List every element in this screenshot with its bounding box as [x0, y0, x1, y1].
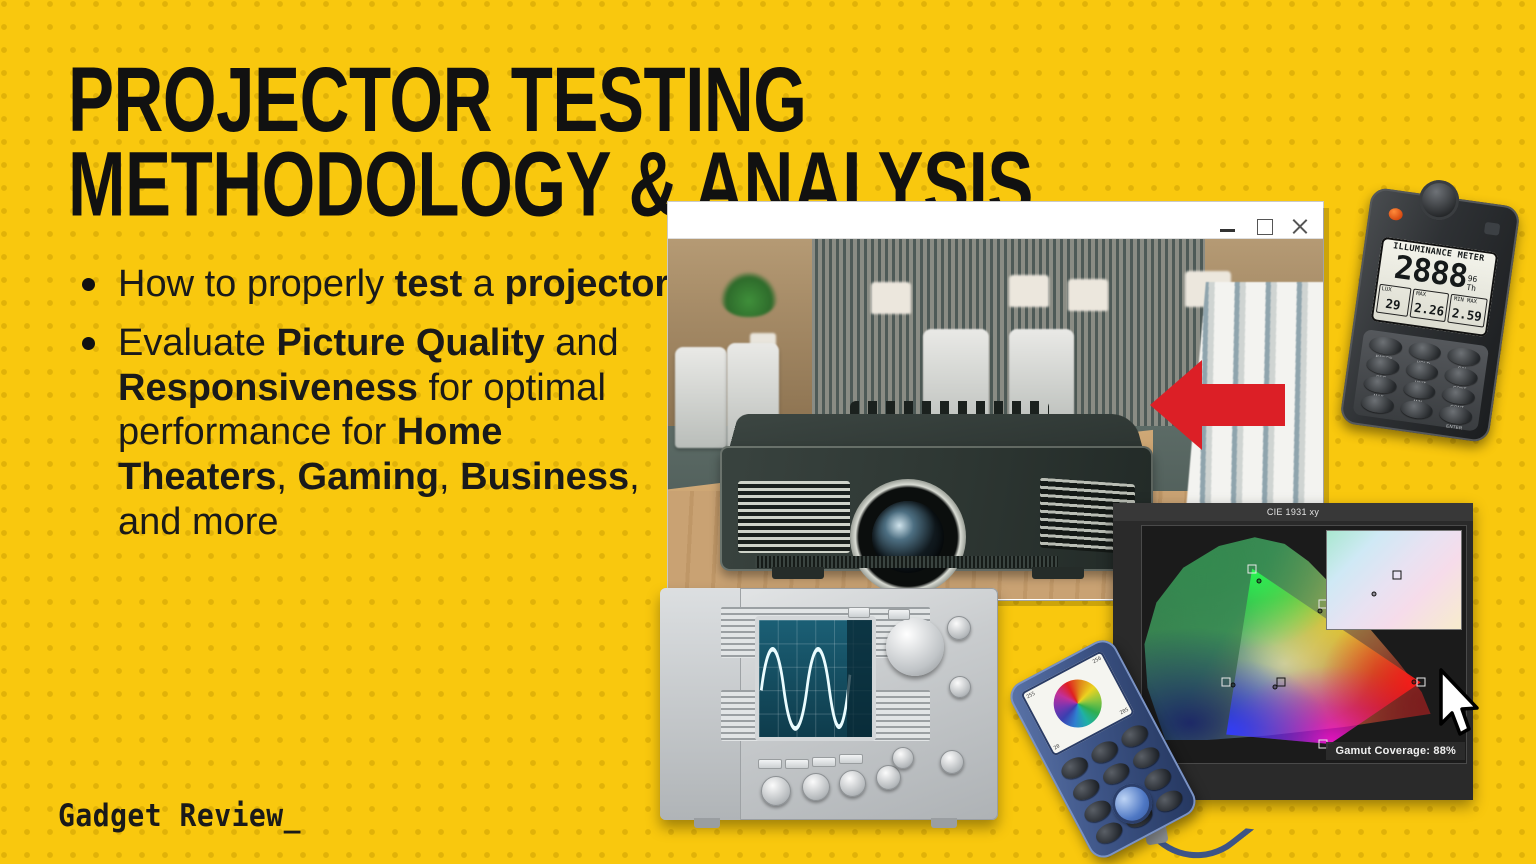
oscilloscope-button-3[interactable]	[812, 757, 836, 767]
maximize-icon[interactable]	[1255, 217, 1273, 235]
bullet-plain: ,	[439, 456, 460, 498]
illuminance-meter-device: ILLUMINANCE METER 2888 96 Th LUX 29 MAX …	[1339, 187, 1521, 444]
lamp-2	[1009, 275, 1049, 307]
oscilloscope-knob-5[interactable]	[892, 747, 914, 769]
colorimeter-key[interactable]	[1088, 737, 1121, 766]
plant-decor	[720, 271, 778, 317]
oscilloscope-knob-3[interactable]	[839, 770, 866, 797]
oscilloscope-screen	[755, 616, 877, 741]
minimize-icon[interactable]	[1219, 217, 1237, 235]
color-wheel-icon	[1045, 671, 1110, 736]
meter-side-button[interactable]	[1484, 222, 1501, 236]
bullet-emphasis: Business	[460, 456, 629, 498]
meter-sub-reading: MAX 2.26	[1410, 288, 1450, 322]
window-title-bar[interactable]	[668, 202, 1323, 239]
meter-key[interactable]: ENTER	[1439, 405, 1474, 426]
list-item: Evaluate Picture Quality and Responsiven…	[72, 321, 672, 545]
meter-key[interactable]: HOLD	[1408, 340, 1443, 361]
meter-sub-reading: LUX 29	[1375, 283, 1411, 316]
colorimeter-tick: 20	[1053, 743, 1061, 751]
meter-sub-label: MIN MAX	[1453, 296, 1484, 306]
bullet-emphasis: Picture Quality	[276, 322, 544, 364]
bullet-emphasis: test	[395, 263, 463, 305]
bullet-text-2: Evaluate Picture Quality and Responsiven…	[118, 322, 640, 543]
cie-target-green	[1248, 564, 1257, 573]
bullet-plain: and	[545, 322, 619, 364]
meter-unit-bottom: Th	[1466, 284, 1477, 294]
red-left-arrow-icon	[1150, 358, 1285, 453]
oscilloscope-button-1[interactable]	[758, 759, 782, 769]
meter-sub-reading: MIN MAX 2.59	[1448, 294, 1488, 328]
cie-chart-title: CIE 1931 xy	[1113, 503, 1473, 521]
slide-canvas: Projector Testing Methodology & Analysis…	[0, 0, 1536, 864]
bullet-plain: ,	[276, 456, 297, 498]
meter-sub-value: 2.59	[1451, 305, 1483, 324]
cie-target-white	[1277, 678, 1286, 687]
meter-lcd-screen: ILLUMINANCE METER 2888 96 Th LUX 29 MAX …	[1370, 237, 1498, 337]
bullet-emphasis: projector	[505, 263, 670, 305]
colorimeter-key[interactable]	[1152, 786, 1185, 815]
bullet-plain: Evaluate	[118, 322, 276, 364]
cie-measured-yellow	[1318, 609, 1323, 614]
colorimeter-key[interactable]	[1092, 818, 1125, 847]
colorimeter-tick: 255	[1026, 691, 1037, 701]
chair	[675, 347, 727, 448]
oscilloscope-button-5[interactable]	[888, 609, 910, 620]
bullet-emphasis: Responsiveness	[118, 367, 418, 409]
meter-key[interactable]	[1360, 394, 1395, 415]
close-icon[interactable]	[1291, 217, 1309, 235]
bullet-emphasis: Gaming	[298, 456, 439, 498]
colorimeter-key[interactable]	[1058, 753, 1091, 782]
cie-inset-target	[1392, 570, 1401, 579]
oscilloscope-button-6[interactable]	[848, 607, 870, 618]
cie-xtick: 0.5	[1275, 763, 1287, 764]
colorimeter-key[interactable]	[1118, 721, 1151, 750]
meter-key[interactable]: CONT	[1444, 366, 1479, 387]
meter-key[interactable]: CAL	[1447, 346, 1482, 367]
bullet-list: How to properly test a projector Evaluat…	[72, 262, 672, 559]
bullet-plain: How to properly	[118, 263, 395, 305]
oscilloscope-button-4[interactable]	[839, 754, 863, 764]
oscilloscope-foot-left	[694, 818, 720, 828]
projector-lens	[850, 479, 966, 595]
oscilloscope-knob-4[interactable]	[876, 765, 901, 790]
cie-inset-measured	[1371, 592, 1376, 597]
meter-sub-value: 29	[1385, 295, 1402, 312]
meter-units: 96 Th	[1466, 275, 1478, 294]
oscilloscope-button-2[interactable]	[785, 759, 809, 769]
oscilloscope-device	[660, 588, 998, 820]
meter-keypad[interactable]: RANGEHOLDCALRECUNITCONTMAXMINCONTENTER	[1352, 329, 1489, 432]
cie-white-point-inset	[1326, 530, 1462, 630]
bullet-plain: a	[462, 263, 504, 305]
meter-key[interactable]	[1399, 399, 1434, 420]
colorimeter-key[interactable]	[1081, 796, 1114, 825]
lamp-3	[1068, 279, 1108, 311]
mouse-cursor-icon	[1437, 668, 1483, 738]
bullet-dot-icon	[82, 278, 95, 291]
meter-key[interactable]: RANGE	[1368, 335, 1403, 356]
bullet-dot-icon	[82, 337, 95, 350]
oscilloscope-knob-7[interactable]	[947, 616, 971, 640]
cie-measured-red	[1412, 680, 1417, 685]
oscilloscope-main-dial[interactable]	[886, 618, 944, 676]
meter-sub-label: MAX	[1416, 291, 1447, 301]
cie-measured-cyan	[1230, 682, 1235, 687]
cie-measured-green	[1256, 578, 1261, 583]
colorimeter-tick: 256	[1092, 656, 1103, 666]
meter-sub-label: LUX	[1381, 286, 1408, 296]
oscilloscope-knob-8[interactable]	[949, 676, 971, 698]
oscilloscope-foot-right	[931, 818, 957, 828]
cie-xtick: 0.6	[1327, 763, 1339, 764]
projector-foot-left	[772, 567, 824, 579]
projector-foot-right	[1032, 567, 1084, 579]
cie-target-red	[1416, 678, 1425, 687]
meter-sub-value: 2.26	[1413, 300, 1445, 319]
lamp-1	[871, 282, 911, 314]
bullet-text-1: How to properly test a projector	[118, 263, 669, 305]
colorimeter-tick: 205	[1119, 707, 1130, 717]
list-item: How to properly test a projector	[72, 262, 672, 307]
cie-xtick: 0.8	[1431, 763, 1443, 764]
cie-xtick: 0.7	[1379, 763, 1391, 764]
oscilloscope-soft-menu[interactable]	[847, 620, 872, 737]
projector-device	[720, 412, 1152, 585]
window-controls[interactable]	[1219, 217, 1309, 235]
cie-measured-white	[1272, 685, 1277, 690]
meter-key[interactable]: UNIT	[1405, 360, 1440, 381]
meter-key[interactable]: CONT	[1441, 385, 1476, 406]
meter-key[interactable]: MAX	[1363, 374, 1398, 395]
projector-vent-left	[738, 481, 850, 553]
meter-key[interactable]: REC	[1366, 354, 1401, 375]
gamut-coverage-badge: Gamut Coverage: 88%	[1326, 742, 1465, 760]
projector-body	[720, 446, 1152, 570]
brand-logo: Gadget Review_	[58, 797, 301, 834]
cie-ytick: 0.7	[1141, 580, 1142, 590]
meter-key[interactable]: MIN	[1402, 380, 1437, 401]
oscilloscope-knob-6[interactable]	[940, 750, 964, 774]
cie-ytick: 0.8	[1141, 547, 1142, 557]
